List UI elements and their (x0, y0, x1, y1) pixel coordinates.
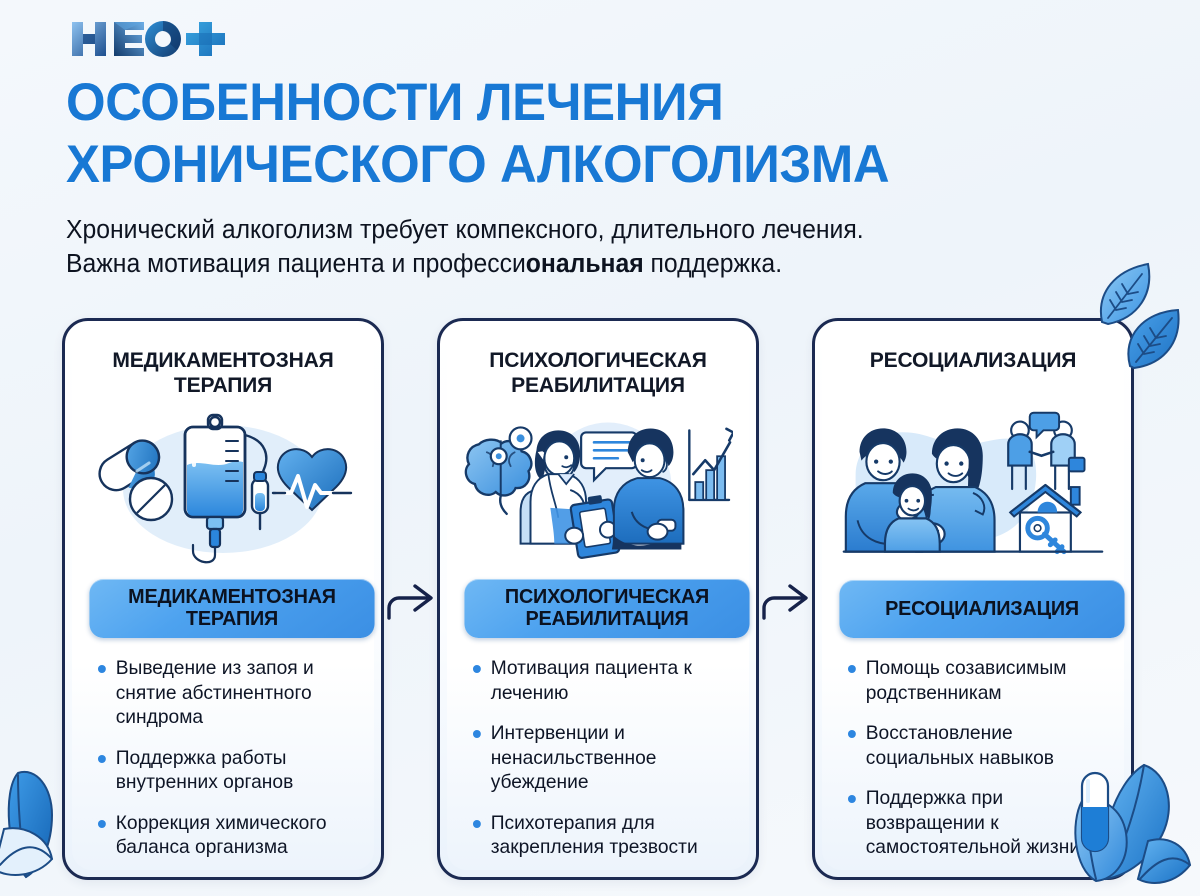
connector-arrow-1 (387, 568, 439, 624)
iv-drip-pills-heart-icon (89, 409, 357, 569)
list-item: Психотерапия для закрепления трезвости (471, 811, 727, 860)
stage-card-inner: РЕСОЦИАЛИЗАЦИЯ (822, 328, 1124, 870)
connector-arrow-2 (762, 568, 814, 624)
list-item: Поддержка работы внутренних органов (96, 746, 352, 795)
stage-pill-label[interactable]: ПСИХОЛОГИЧЕСКАЯ РЕАБИЛИТАЦИЯ (464, 579, 749, 638)
growth-chart-icon (689, 429, 733, 500)
round-tablet (130, 478, 172, 520)
stage-bullet-list: Выведение из запоя и снятие абстинентног… (88, 656, 358, 860)
stage-card-medication[interactable]: МЕДИКАМЕНТОЗНАЯ ТЕРАПИЯ (62, 318, 384, 880)
page-subtitle: Хронический алкоголизм требует компексно… (66, 213, 1104, 281)
brand-logo (68, 16, 238, 60)
stage-card-inner: МЕДИКАМЕНТОЗНАЯ ТЕРАПИЯ (72, 328, 374, 870)
stage-bullet-list: Мотивация пациента к лечению Интервенции… (463, 656, 733, 860)
psychology-illustration (463, 406, 733, 573)
infographic-page: ОСОБЕННОСТИ ЛЕЧЕНИЯ ХРОНИЧЕСКОГО АЛКОГОЛ… (0, 0, 1200, 896)
list-item: Выведение из запоя и снятие абстинентног… (96, 656, 352, 730)
curved-arrow-right-icon (387, 568, 439, 624)
list-item: Помощь созависимым родственникам (846, 656, 1102, 705)
stage-heading: РЕСОЦИАЛИЗАЦИЯ (841, 348, 1106, 400)
page-title-line-2: ХРОНИЧЕСКОГО АЛКОГОЛИЗМА (66, 134, 1103, 196)
resocialization-illustration (838, 406, 1108, 574)
stage-heading: МЕДИКАМЕНТОЗНАЯ ТЕРАПИЯ (91, 348, 356, 400)
list-item: Интервенции и ненасильственное убеждение (471, 721, 727, 795)
list-item: Коррекция химического баланса организма (96, 811, 352, 860)
stage-pill-label[interactable]: РЕСОЦИАЛИЗАЦИЯ (839, 580, 1124, 638)
treatment-stages-container: МЕДИКАМЕНТОЗНАЯ ТЕРАПИЯ (0, 318, 1200, 888)
page-subtitle-line-2: Важна мотивация пациента и профессиональ… (66, 247, 1104, 281)
stage-heading: ПСИХОЛОГИЧЕСКАЯ РЕАБИЛИТАЦИЯ (466, 348, 731, 400)
page-title-line-1: ОСОБЕННОСТИ ЛЕЧЕНИЯ (66, 72, 1103, 134)
therapy-session-brain-chart-icon (463, 408, 733, 570)
stage-card-resocialization[interactable]: РЕСОЦИАЛИЗАЦИЯ (812, 318, 1134, 880)
stage-card-psychological[interactable]: ПСИХОЛОГИЧЕСКАЯ РЕАБИЛИТАЦИЯ (437, 318, 759, 880)
stage-bullet-list: Помощь созависимым родственникам Восстан… (838, 656, 1108, 860)
list-item: Поддержка при возвращении к самостоятель… (846, 786, 1102, 860)
medication-illustration (88, 406, 358, 573)
subtitle-text-pre: Важна мотивация пациента и професси (66, 250, 526, 278)
subtitle-text-bold: ональная (526, 250, 644, 278)
list-item: Восстановление социальных навыков (846, 721, 1102, 770)
stage-pill-label[interactable]: МЕДИКАМЕНТОЗНАЯ ТЕРАПИЯ (89, 579, 374, 638)
stage-card-inner: ПСИХОЛОГИЧЕСКАЯ РЕАБИЛИТАЦИЯ (447, 328, 749, 870)
curved-arrow-right-icon (762, 568, 814, 624)
list-item: Мотивация пациента к лечению (471, 656, 727, 705)
neo-plus-logo-icon (68, 16, 238, 60)
family-handshake-house-key-icon (838, 409, 1108, 571)
subtitle-text-post: поддержка. (644, 250, 782, 278)
page-subtitle-line-1: Хронический алкоголизм требует компексно… (66, 213, 1104, 247)
page-title: ОСОБЕННОСТИ ЛЕЧЕНИЯ ХРОНИЧЕСКОГО АЛКОГОЛ… (66, 72, 1103, 196)
